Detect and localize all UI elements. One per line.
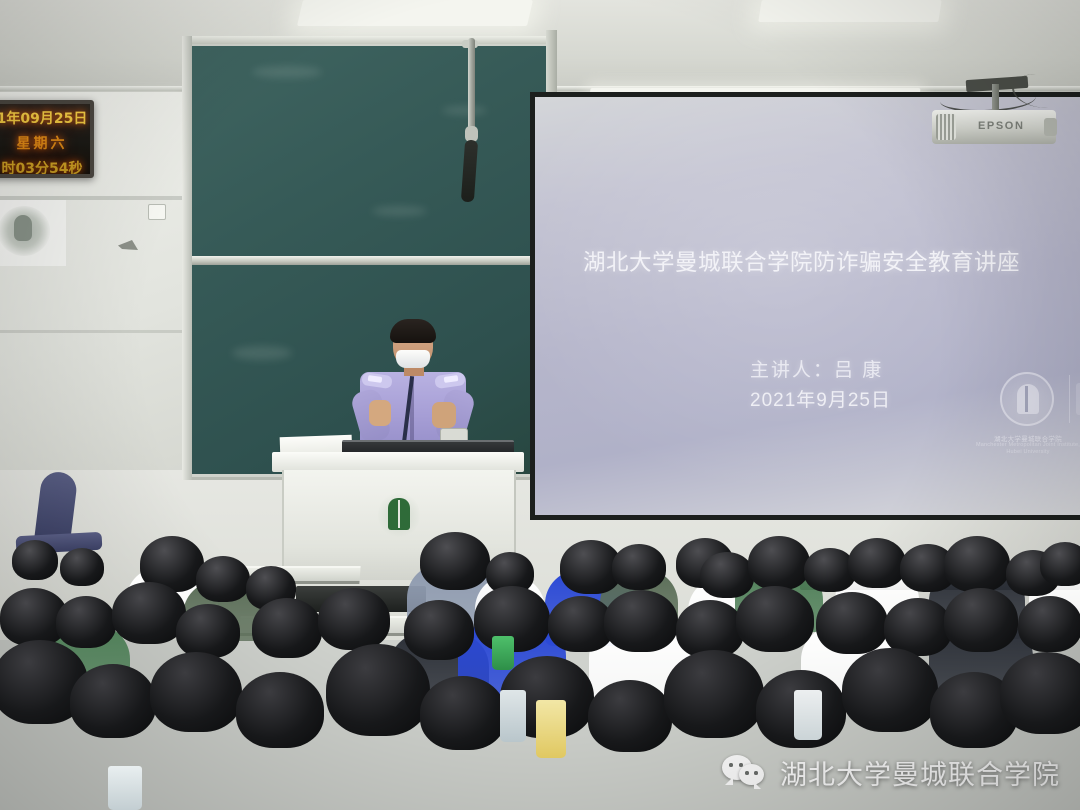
audience-member-head — [196, 556, 250, 602]
audience-member-head — [604, 590, 678, 652]
led-date-line: 1年09月25日 — [0, 108, 90, 128]
projector-vent — [936, 114, 956, 140]
bottle-clear — [500, 690, 526, 742]
ceiling-light — [297, 0, 533, 26]
audience-member-head — [176, 604, 240, 658]
slide-title: 湖北大学曼城联合学院防诈骗安全教育讲座 — [583, 245, 1063, 277]
blackboard-top-edge — [190, 36, 554, 44]
audience-member-head — [842, 648, 938, 732]
audience-member-head — [12, 540, 58, 580]
podium-emblem-icon — [378, 492, 420, 538]
audience-member-head — [318, 588, 390, 650]
presenter-hand — [369, 400, 391, 426]
lecture-hall-photo: 湖北大学曼城联合学院防诈骗安全教育讲座 主讲人：吕 康 2021年9月25日 湖… — [0, 0, 1080, 810]
logo-divider — [1069, 375, 1070, 423]
watermark: 湖北大学曼城联合学院 — [722, 752, 1060, 792]
bottle-clear — [794, 690, 822, 740]
slide-presenter: 主讲人：吕 康 — [750, 355, 883, 382]
audience-member-head — [326, 644, 430, 736]
audience-member-head — [848, 538, 906, 588]
audience-member-head — [150, 652, 242, 732]
audience-member-head — [1018, 596, 1080, 652]
university-logo-icon — [1000, 372, 1054, 426]
led-time-line: 时03分54秒 — [0, 158, 90, 178]
audience-member-head — [60, 548, 104, 586]
wall-emblem-icon — [0, 206, 50, 256]
audience-member-head — [588, 680, 672, 752]
audience-member-head — [736, 586, 814, 652]
led-clock-display: 1年09月25日 星期六 时03分54秒 — [0, 100, 94, 178]
audience-member-head — [944, 536, 1010, 592]
audience-member-head — [420, 532, 490, 590]
face-mask — [396, 350, 430, 368]
wall-switch-box[interactable] — [148, 204, 166, 220]
audience-member-head — [664, 650, 764, 738]
ceiling-light — [758, 0, 941, 22]
wall-seam — [0, 330, 196, 333]
audience-member-head — [252, 598, 322, 658]
audience-member-head — [700, 552, 754, 598]
audience-member-head — [944, 588, 1018, 652]
audience-member-head — [70, 664, 156, 738]
partner-logo-icon — [1076, 383, 1080, 415]
drink-cup — [536, 700, 566, 758]
audience-member-head — [404, 600, 474, 660]
led-weekday-line: 星期六 — [0, 133, 90, 153]
mic-pole — [468, 38, 475, 130]
audience-member-head — [420, 676, 506, 750]
presenter-hand — [432, 402, 456, 428]
logo-caption-en: Manchester Metropolitan Joint Institute,… — [972, 442, 1080, 456]
audience-member-head — [1040, 542, 1080, 586]
audience-member-head — [112, 582, 186, 644]
bottle-clear — [108, 766, 142, 810]
audience-member-head — [612, 544, 666, 590]
audience-member-head — [1000, 652, 1080, 734]
projector-lens — [1044, 118, 1057, 136]
audience-member-head — [748, 536, 810, 590]
chalk-rail — [190, 256, 550, 265]
projection-screen: 湖北大学曼城联合学院防诈骗安全教育讲座 主讲人：吕 康 2021年9月25日 湖… — [535, 97, 1080, 515]
audience-member-head — [816, 592, 888, 654]
watermark-text: 湖北大学曼城联合学院 — [780, 753, 1060, 792]
bottle-green — [492, 636, 514, 670]
audience-member-head — [56, 596, 116, 648]
blackboard-post — [182, 36, 192, 480]
audience-member-head — [236, 672, 324, 748]
podium-top — [272, 452, 524, 472]
projector-brand-label: EPSON — [978, 120, 1025, 132]
slide-date: 2021年9月25日 — [750, 385, 891, 412]
wechat-icon — [722, 755, 768, 789]
